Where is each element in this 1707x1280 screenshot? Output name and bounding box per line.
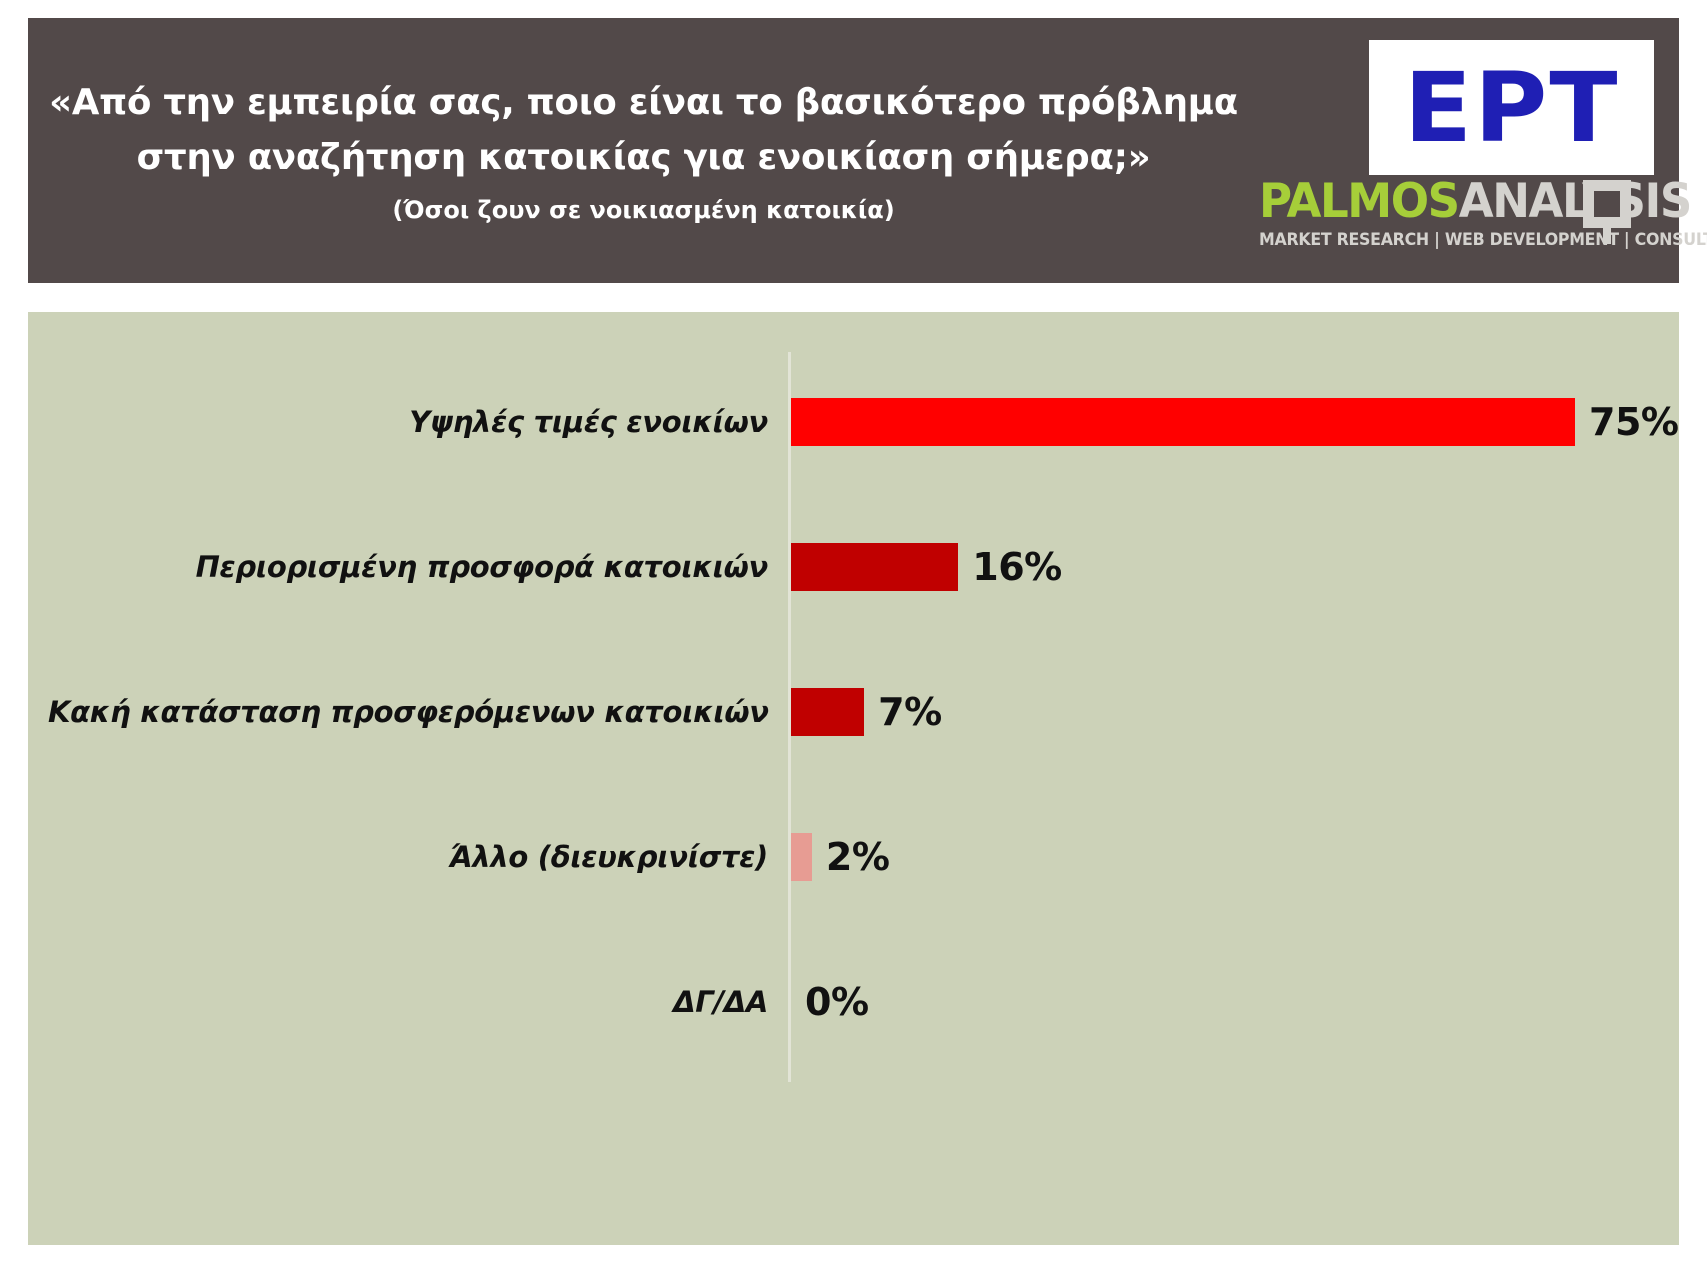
chart-bar-group: 2% — [791, 827, 889, 887]
palmos-square-mark-icon — [1577, 176, 1637, 244]
chart-bar-row: ΔΓ/ΔΑ0% — [28, 972, 1679, 1032]
page-title-line-2: στην αναζήτηση κατοικίας για ενοικίαση σ… — [137, 130, 1151, 185]
chart-bar-group: 16% — [791, 537, 1062, 597]
chart-bar-row: Κακή κατάσταση προσφερόμενων κατοικιών7% — [28, 682, 1679, 742]
chart-value-label: 2% — [826, 835, 890, 879]
chart-bar-group: 75% — [791, 392, 1678, 452]
poll-result-slide: «Από την εμπειρία σας, ποιο είναι το βασ… — [0, 0, 1707, 1280]
chart-bar-row: Υψηλές τιμές ενοικίων75% — [28, 392, 1679, 452]
chart-category-label: Υψηλές τιμές ενοικίων — [48, 405, 768, 439]
palmos-logo-word-secondary: ANALYSIS — [1459, 174, 1691, 229]
chart-category-label: Άλλο (διευκρινίστε) — [48, 840, 768, 874]
chart-value-label: 16% — [972, 545, 1061, 589]
ert-logo: ΕΡΤ — [1369, 40, 1654, 175]
chart-bar-rows: Υψηλές τιμές ενοικίων75%Περιορισμένη προ… — [28, 312, 1679, 1245]
ert-logo-text: ΕΡΤ — [1404, 60, 1620, 156]
chart-bar — [791, 688, 864, 736]
chart-bar-group: 0% — [791, 972, 869, 1032]
chart-value-label: 75% — [1589, 400, 1678, 444]
chart-bar — [791, 398, 1575, 446]
chart-bar-row: Περιορισμένη προσφορά κατοικιών16% — [28, 537, 1679, 597]
logo-block: ΕΡΤ PALMOSANALYSIS MARKET RESEARCH | WEB… — [1259, 18, 1679, 283]
header-banner: «Από την εμπειρία σας, ποιο είναι το βασ… — [28, 18, 1679, 283]
header-text-block: «Από την εμπειρία σας, ποιο είναι το βασ… — [28, 18, 1259, 283]
chart-category-label: Περιορισμένη προσφορά κατοικιών — [48, 550, 768, 584]
chart-panel: Υψηλές τιμές ενοικίων75%Περιορισμένη προ… — [28, 312, 1679, 1245]
chart-value-label: 0% — [805, 980, 869, 1024]
page-title-line-1: «Από την εμπειρία σας, ποιο είναι το βασ… — [49, 75, 1238, 130]
palmos-logo-word-primary: PALMOS — [1259, 174, 1459, 229]
chart-value-label: 7% — [878, 690, 942, 734]
chart-bar-row: Άλλο (διευκρινίστε)2% — [28, 827, 1679, 887]
page-subtitle: (Όσοι ζουν σε νοικιασμένη κατοικία) — [392, 195, 894, 226]
chart-bar — [791, 543, 958, 591]
chart-category-label: ΔΓ/ΔΑ — [48, 985, 768, 1019]
palmos-analysis-logo: PALMOSANALYSIS MARKET RESEARCH | WEB DEV… — [1259, 178, 1679, 249]
chart-bar — [791, 833, 812, 881]
chart-bar-group: 7% — [791, 682, 942, 742]
chart-category-label: Κακή κατάσταση προσφερόμενων κατοικιών — [48, 695, 768, 729]
